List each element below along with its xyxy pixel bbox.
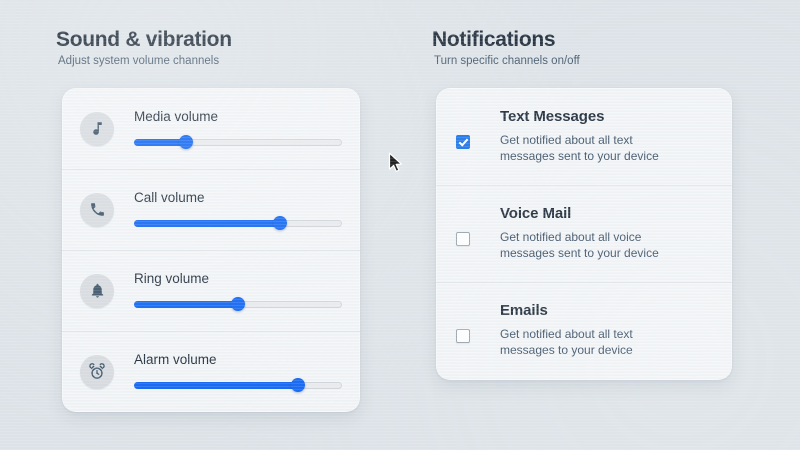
slider-thumb[interactable] xyxy=(273,216,287,230)
notifications-card: Text Messages Get notified about all tex… xyxy=(436,88,732,380)
sound-row-call-volume[interactable]: Call volume xyxy=(62,169,360,250)
sound-row-body: Media volume xyxy=(134,109,360,149)
bell-icon xyxy=(80,274,114,308)
slider-thumb[interactable] xyxy=(231,297,245,311)
sound-section-subtitle: Adjust system volume channels xyxy=(58,55,219,67)
slider-thumb[interactable] xyxy=(179,135,193,149)
sound-row-body: Ring volume xyxy=(134,271,360,311)
notifications-section-subtitle: Turn specific channels on/off xyxy=(434,55,580,67)
notification-row-text-messages[interactable]: Text Messages Get notified about all tex… xyxy=(436,88,732,185)
sound-row-ring-volume[interactable]: Ring volume xyxy=(62,250,360,331)
notification-title: Voice Mail xyxy=(500,205,714,222)
sound-row-label: Alarm volume xyxy=(134,352,342,367)
sound-settings-card: Media volume Call volume xyxy=(62,88,360,412)
checkbox-text-messages[interactable] xyxy=(456,135,470,149)
sound-section-title: Sound & vibration xyxy=(56,28,232,52)
notification-description: Get notified about all voice messages se… xyxy=(500,229,675,262)
phone-icon xyxy=(80,193,114,227)
checkbox-emails[interactable] xyxy=(456,329,470,343)
notification-title: Emails xyxy=(500,302,714,319)
sound-row-label: Ring volume xyxy=(134,271,342,286)
sound-row-alarm-volume[interactable]: Alarm volume xyxy=(62,331,360,412)
checkbox-voice-mail[interactable] xyxy=(456,232,470,246)
notifications-section-title: Notifications xyxy=(432,28,555,52)
sound-row-label: Media volume xyxy=(134,109,342,124)
slider-thumb[interactable] xyxy=(291,378,305,392)
slider-fill xyxy=(134,220,280,227)
notification-body: Emails Get notified about all text messa… xyxy=(500,302,714,359)
sound-row-body: Call volume xyxy=(134,190,360,230)
notification-title: Text Messages xyxy=(500,108,714,125)
sound-row-body: Alarm volume xyxy=(134,352,360,392)
slider-alarm-volume[interactable] xyxy=(134,378,342,392)
slider-fill xyxy=(134,382,298,389)
notification-body: Text Messages Get notified about all tex… xyxy=(500,108,714,165)
settings-page: Sound & vibration Adjust system volume c… xyxy=(0,0,800,450)
music-note-icon xyxy=(80,112,114,146)
slider-fill xyxy=(134,301,238,308)
alarm-clock-icon xyxy=(80,355,114,389)
slider-call-volume[interactable] xyxy=(134,216,342,230)
slider-ring-volume[interactable] xyxy=(134,297,342,311)
notification-row-emails[interactable]: Emails Get notified about all text messa… xyxy=(436,282,732,379)
sound-row-media-volume[interactable]: Media volume xyxy=(62,88,360,169)
sound-row-label: Call volume xyxy=(134,190,342,205)
notification-row-voice-mail[interactable]: Voice Mail Get notified about all voice … xyxy=(436,185,732,282)
notification-body: Voice Mail Get notified about all voice … xyxy=(500,205,714,262)
notification-description: Get notified about all text messages to … xyxy=(500,326,675,359)
notification-description: Get notified about all text messages sen… xyxy=(500,132,675,165)
slider-media-volume[interactable] xyxy=(134,135,342,149)
mouse-cursor xyxy=(388,152,404,179)
